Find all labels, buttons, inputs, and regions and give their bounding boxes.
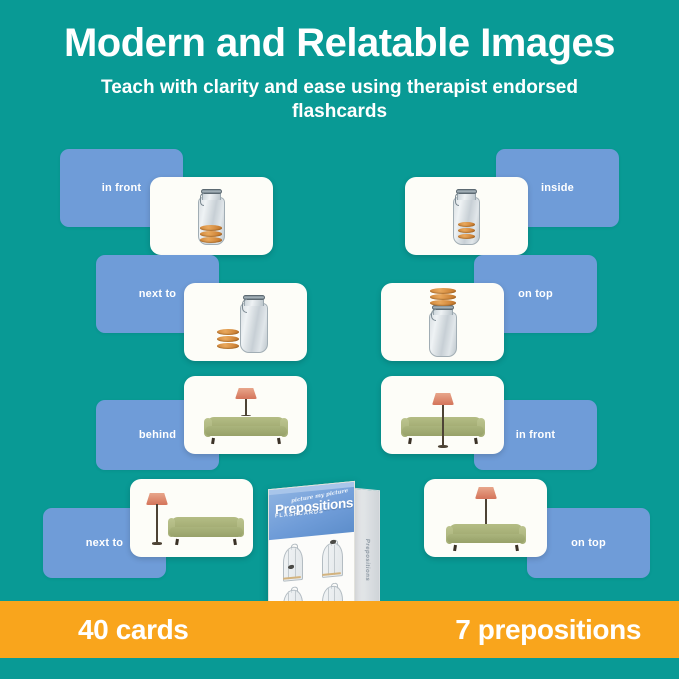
word-card-label: behind (139, 429, 176, 441)
lamp-icon (432, 393, 454, 448)
sofa-icon (204, 407, 288, 444)
picture-card-sofa-behind (184, 376, 307, 454)
picture-card-jar-on-top (381, 283, 504, 361)
preposition-count-label: 7 prepositions (455, 614, 641, 646)
word-card-label: inside (541, 182, 574, 194)
picture-card-art (130, 479, 253, 557)
picture-card-jar-next-to (184, 283, 307, 361)
picture-card-art (424, 479, 547, 557)
product-box-side-text: Prepositions (364, 539, 370, 582)
birdcage-icon (274, 542, 310, 584)
word-card-label: next to (139, 288, 176, 300)
picture-card-jar-inside (405, 177, 528, 255)
picture-card-art (150, 177, 273, 255)
picture-card-art (184, 283, 307, 361)
word-card-label: next to (86, 537, 123, 549)
birdcage-icon (314, 538, 350, 580)
picture-card-art (184, 376, 307, 454)
cookie-stack-icon (430, 288, 456, 310)
word-card-label: in front (102, 182, 141, 194)
picture-card-jar-in-front (150, 177, 273, 255)
picture-card-sofa-in-front (381, 376, 504, 454)
footer-strip (0, 658, 679, 679)
picture-card-art (381, 283, 504, 361)
jar-icon (240, 295, 268, 353)
lamp-icon (146, 493, 168, 545)
cookie-stack-icon (200, 225, 222, 247)
cookie-stack-icon (458, 222, 475, 242)
picture-card-sofa-next-to (130, 479, 253, 557)
page-title: Modern and Relatable Images (0, 0, 679, 64)
product-box-color-band: picture my picture Prepositions FLASHCAR… (269, 482, 354, 540)
card-count-label: 40 cards (78, 614, 188, 646)
picture-card-art (405, 177, 528, 255)
sofa-icon (446, 515, 526, 551)
word-card-label: on top (571, 537, 606, 549)
promo-image-root: Modern and Relatable Images Teach with c… (0, 0, 679, 679)
picture-card-art (381, 376, 504, 454)
word-card-label: on top (518, 288, 553, 300)
sofa-icon (168, 507, 244, 545)
header: Modern and Relatable Images Teach with c… (0, 0, 679, 125)
bottom-banner: 40 cards 7 prepositions (0, 601, 679, 658)
page-subtitle: Teach with clarity and ease using therap… (60, 76, 620, 125)
word-card-label: in front (516, 429, 555, 441)
jar-icon (429, 305, 457, 357)
picture-card-sofa-on-top (424, 479, 547, 557)
cookie-stack-icon (217, 329, 239, 353)
